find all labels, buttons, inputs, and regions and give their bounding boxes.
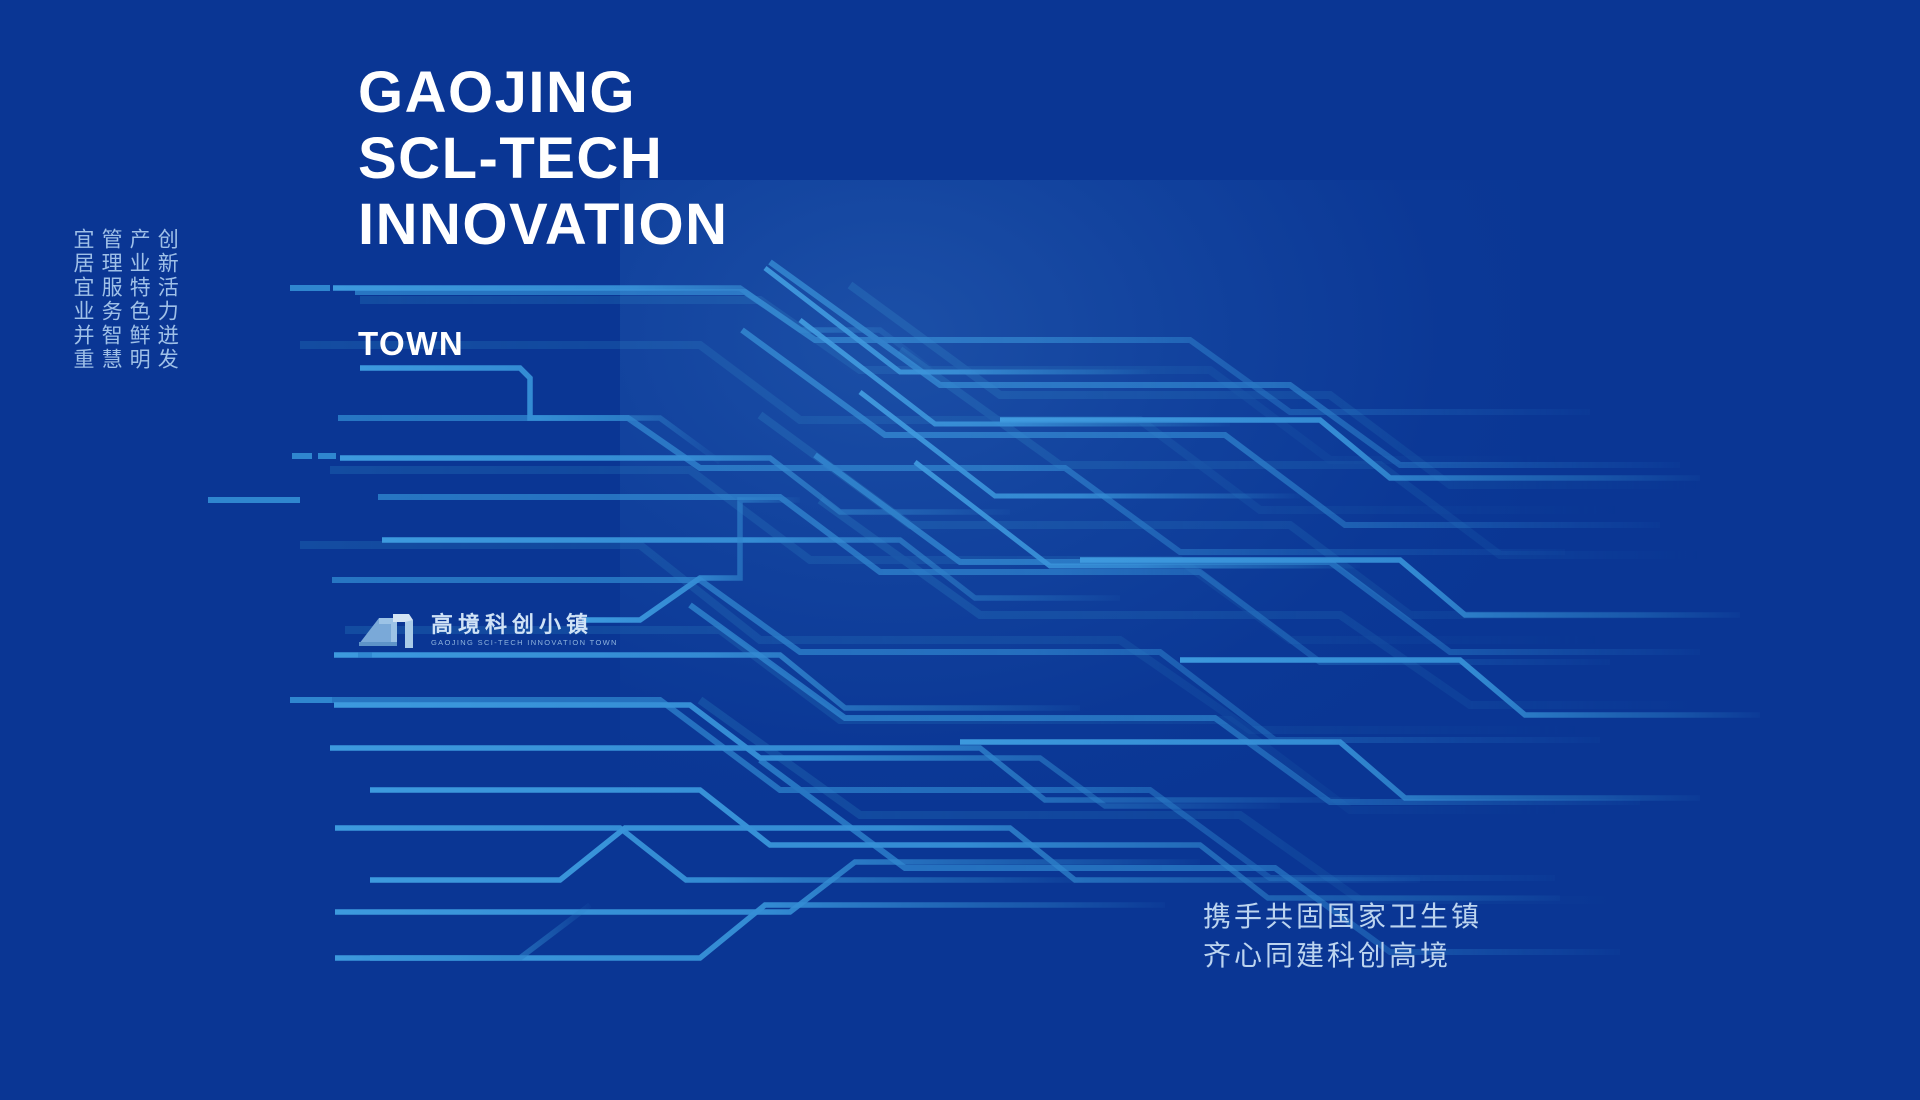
vertical-slogan-column-1: 创新活力迸发 <box>156 228 178 372</box>
headline-line-4: TOWN <box>358 325 464 363</box>
circuit-trace-background <box>0 0 1920 1100</box>
background-glow <box>620 180 1520 800</box>
house-building-icon <box>357 608 419 654</box>
logo-text-block: 高境科创小镇 GAOJING SCI-TECH INNOVATION TOWN <box>431 615 618 647</box>
vertical-slogan-column-4: 宜居宜业并重 <box>72 228 94 372</box>
logo-name-cn: 高境科创小镇 <box>431 615 618 637</box>
page-title: GAOJING SCL-TECH INNOVATION <box>358 60 729 258</box>
brand-logo: 高境科创小镇 GAOJING SCI-TECH INNOVATION TOWN <box>357 608 618 654</box>
campaign-slogan: 携手共固国家卫生镇 齐心同建科创高境 <box>1203 898 1482 975</box>
poster-canvas: 创新活力迸发 产业特色鲜明 管理服务智慧 宜居宜业并重 GAOJING SCL-… <box>0 0 1920 1100</box>
campaign-slogan-line-2: 齐心同建科创高境 <box>1203 937 1482 976</box>
logo-name-en: GAOJING SCI-TECH INNOVATION TOWN <box>431 639 618 647</box>
vertical-slogan-block: 创新活力迸发 产业特色鲜明 管理服务智慧 宜居宜业并重 <box>72 228 178 372</box>
vertical-slogan-column-2: 产业特色鲜明 <box>128 228 150 372</box>
headline-line-1: GAOJING <box>358 60 729 126</box>
headline-line-2: SCL-TECH <box>358 126 729 192</box>
campaign-slogan-line-1: 携手共固国家卫生镇 <box>1203 898 1482 937</box>
headline-line-3: INNOVATION <box>358 192 729 258</box>
vertical-slogan-column-3: 管理服务智慧 <box>100 228 122 372</box>
